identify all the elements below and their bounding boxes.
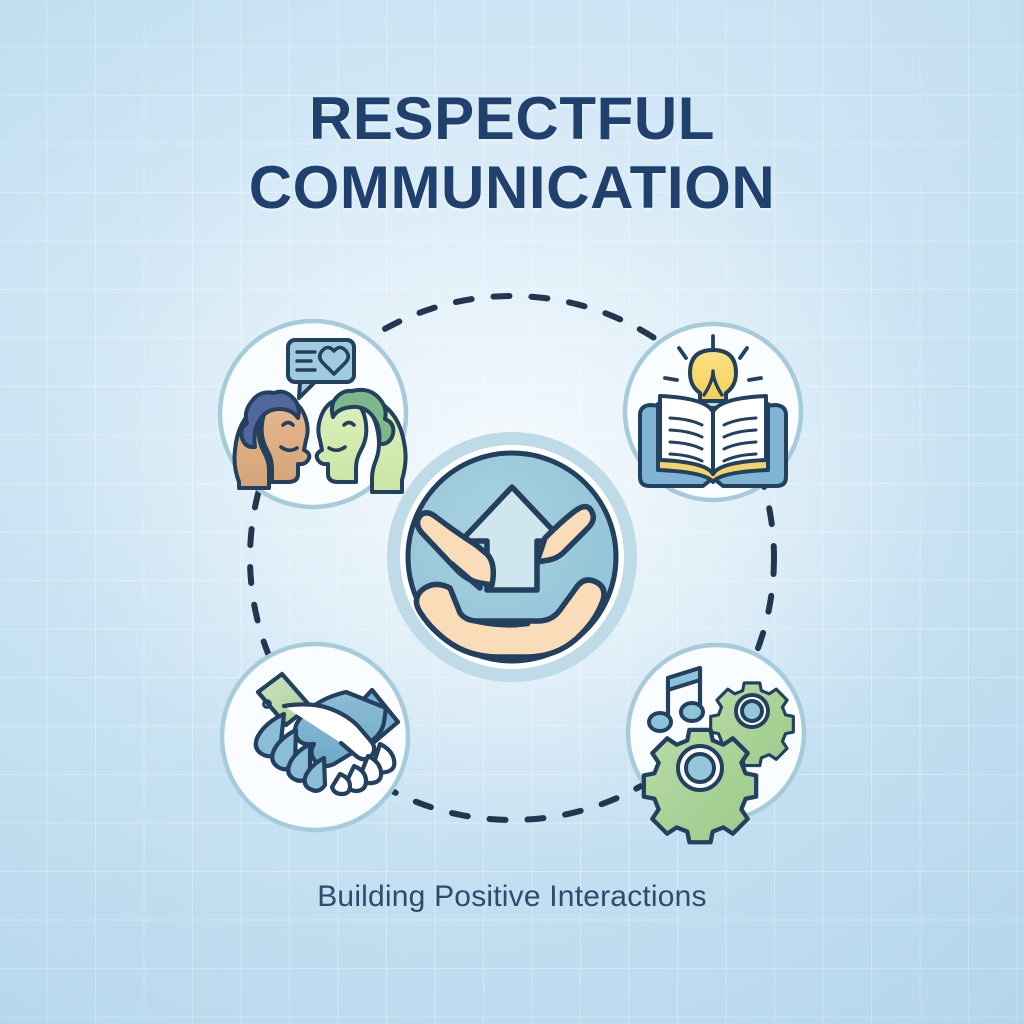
node-top-left[interactable]	[220, 321, 406, 507]
title-line-1: RESPECTFUL	[0, 88, 1024, 149]
page-subtitle: Building Positive Interactions	[0, 880, 1024, 914]
page-title: RESPECTFUL COMMUNICATION	[0, 88, 1024, 218]
center-node[interactable]	[387, 432, 637, 682]
open-book-lightbulb-icon	[640, 336, 786, 486]
hands-holding-arrow-icon	[416, 487, 604, 657]
two-faces-speech-bubble-icon	[235, 340, 406, 492]
infographic-poster: RESPECTFUL COMMUNICATION Building Positi…	[0, 0, 1024, 1024]
node-bottom-left[interactable]	[222, 644, 408, 830]
node-top-right[interactable]	[625, 324, 801, 500]
music-note-gears-icon	[644, 668, 794, 842]
handshake-icon	[256, 674, 398, 794]
title-line-2: COMMUNICATION	[0, 157, 1024, 218]
connector-dashed-ring	[250, 296, 774, 820]
node-bottom-right[interactable]	[628, 645, 804, 842]
